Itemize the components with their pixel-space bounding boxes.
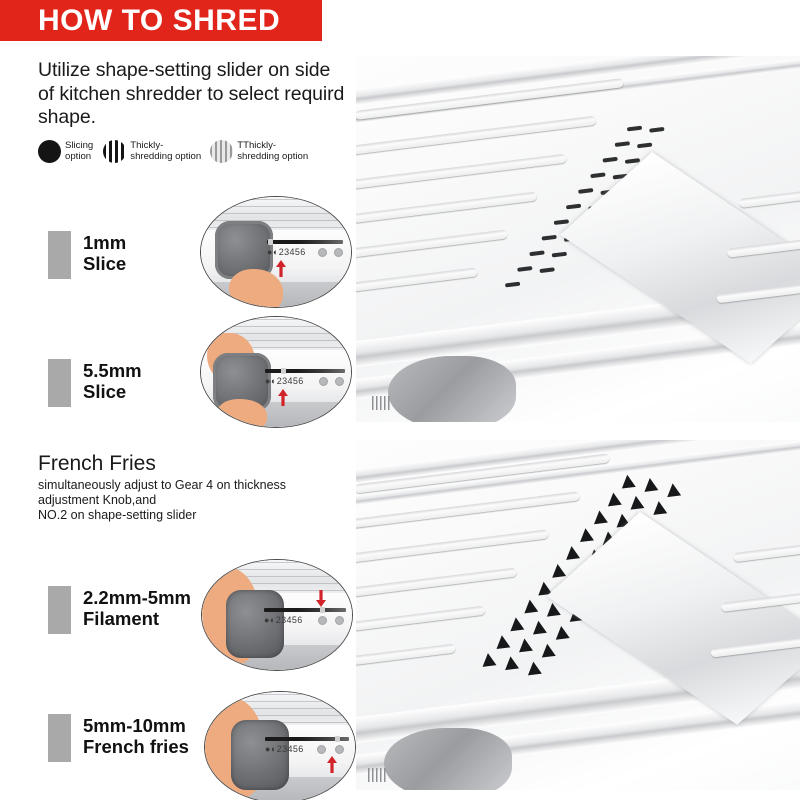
scale-numbers: ●◐23456 — [267, 247, 306, 257]
spec-row-french-fries: 5mm-10mm French fries — [48, 714, 189, 762]
thickness-knob — [388, 356, 516, 422]
spec-label: 5mm-10mm French fries — [83, 714, 189, 757]
mandoline-slot — [727, 234, 800, 258]
header-banner: HOW TO SHRED — [0, 0, 322, 41]
mandoline-slot — [710, 634, 800, 658]
spec-line-2: French fries — [83, 736, 189, 757]
slot-group-right — [677, 187, 800, 345]
shape-setting-scale: ●◐23456 — [264, 608, 346, 636]
spec-line-2: Slice — [83, 381, 142, 402]
slider-position-filament: ●◐23456 — [201, 559, 353, 671]
slider-position-1mm-slice: ●◐23456 — [200, 196, 352, 308]
intro-paragraph: Utilize shape-setting slider on side of … — [38, 59, 348, 130]
shredder-slicing-blade-photo — [356, 56, 800, 422]
light-striped-circle-icon — [210, 140, 233, 163]
scale-digits: 23456 — [277, 744, 304, 754]
scale-digits: 23456 — [277, 376, 304, 386]
spec-line-1: 5.5mm — [83, 360, 142, 381]
legend-item-tthickly-shredding: TThickly- shredding option — [210, 140, 308, 163]
scale-dot-a — [317, 745, 326, 754]
red-arrow-up-icon — [277, 389, 289, 406]
spec-swatch — [48, 231, 71, 279]
spec-line-1: 1mm — [83, 232, 126, 253]
scale-dot-a — [318, 616, 327, 625]
scale-slider-nub — [320, 607, 325, 613]
scale-digits: 23456 — [279, 247, 306, 257]
scale-slider-nub — [281, 368, 286, 374]
scale-slider-nub — [268, 239, 273, 245]
red-arrow-down-icon — [315, 590, 327, 607]
spec-swatch — [48, 586, 71, 634]
mandoline-slot — [721, 588, 800, 612]
shredder-julienne-blade-photo — [356, 440, 800, 790]
spec-swatch — [48, 714, 71, 762]
scale-digits: 23456 — [276, 615, 303, 625]
spec-row-filament: 2.2mm-5mm Filament — [48, 586, 191, 634]
infographic-page: HOW TO SHRED Utilize shape-setting slide… — [0, 0, 800, 800]
vent-grille-icon — [372, 396, 390, 410]
spec-line-1: 5mm-10mm — [83, 715, 186, 736]
spec-row-5-5mm-slice: 5.5mm Slice — [48, 359, 142, 407]
scale-bar — [264, 608, 346, 612]
legend-item-thickly-shredding: Thickly- shredding option — [103, 140, 201, 163]
scale-slider-nub — [335, 736, 340, 742]
scale-dot-b — [334, 248, 343, 257]
legend-line-2: option — [65, 151, 91, 162]
scale-bar — [267, 240, 343, 244]
legend-line-1: Slicing — [65, 140, 93, 151]
legend-line-1: TThickly- — [237, 140, 276, 151]
legend-item-slicing: Slicing option — [38, 140, 93, 163]
thickness-knob — [384, 728, 512, 790]
red-arrow-up-icon — [326, 756, 338, 773]
ff-sub-line-1: simultaneously adjust to Gear 4 on thick… — [38, 478, 286, 492]
french-fries-block: French Fries simultaneously adjust to Ge… — [38, 451, 353, 523]
spec-row-1mm-slice: 1mm Slice — [48, 231, 126, 279]
scale-numbers: ●◐23456 — [265, 744, 304, 754]
scale-numbers: ●◐23456 — [265, 376, 304, 386]
slider-position-5-5mm-slice: ●◐23456 — [200, 316, 352, 428]
spec-line-2: Slice — [83, 253, 126, 274]
red-arrow-up-icon — [275, 260, 287, 277]
ff-sub-line-3: NO.2 on shape-setting slider — [38, 508, 196, 522]
legend-item-label: Thickly- shredding option — [130, 141, 201, 162]
vent-grille-icon — [368, 768, 386, 782]
legend-item-label: TThickly- shredding option — [237, 141, 308, 162]
french-fries-title: French Fries — [38, 451, 353, 476]
striped-circle-icon — [103, 140, 126, 163]
scale-dot-a — [318, 248, 327, 257]
french-fries-instructions: simultaneously adjust to Gear 4 on thick… — [38, 478, 353, 523]
slider-position-french-fries: ●◐23456 — [204, 691, 356, 800]
legend-item-label: Slicing option — [65, 141, 93, 162]
spec-label: 1mm Slice — [83, 231, 126, 274]
scale-dot-b — [335, 377, 344, 386]
scale-dot-b — [335, 745, 344, 754]
page-title: HOW TO SHRED — [0, 0, 280, 41]
spec-line-2: Filament — [83, 608, 191, 629]
scale-bar — [265, 369, 345, 373]
ff-sub-line-2: adjustment Knob,and — [38, 493, 156, 507]
mandoline-slot — [716, 280, 800, 304]
scale-dot-a — [319, 377, 328, 386]
scale-numbers: ●◐23456 — [264, 615, 303, 625]
spec-label: 2.2mm-5mm Filament — [83, 586, 191, 629]
legend-line-2: shredding option — [130, 151, 201, 162]
legend-line-1: Thickly- — [130, 140, 163, 151]
legend: Slicing option Thickly- shredding option… — [38, 140, 353, 163]
spec-swatch — [48, 359, 71, 407]
hand-illustration — [217, 399, 267, 428]
solid-circle-icon — [38, 140, 61, 163]
scale-dot-b — [335, 616, 344, 625]
slot-group-right — [673, 541, 800, 699]
spec-label: 5.5mm Slice — [83, 359, 142, 402]
spec-line-1: 2.2mm-5mm — [83, 587, 191, 608]
legend-line-2: shredding option — [237, 151, 308, 162]
